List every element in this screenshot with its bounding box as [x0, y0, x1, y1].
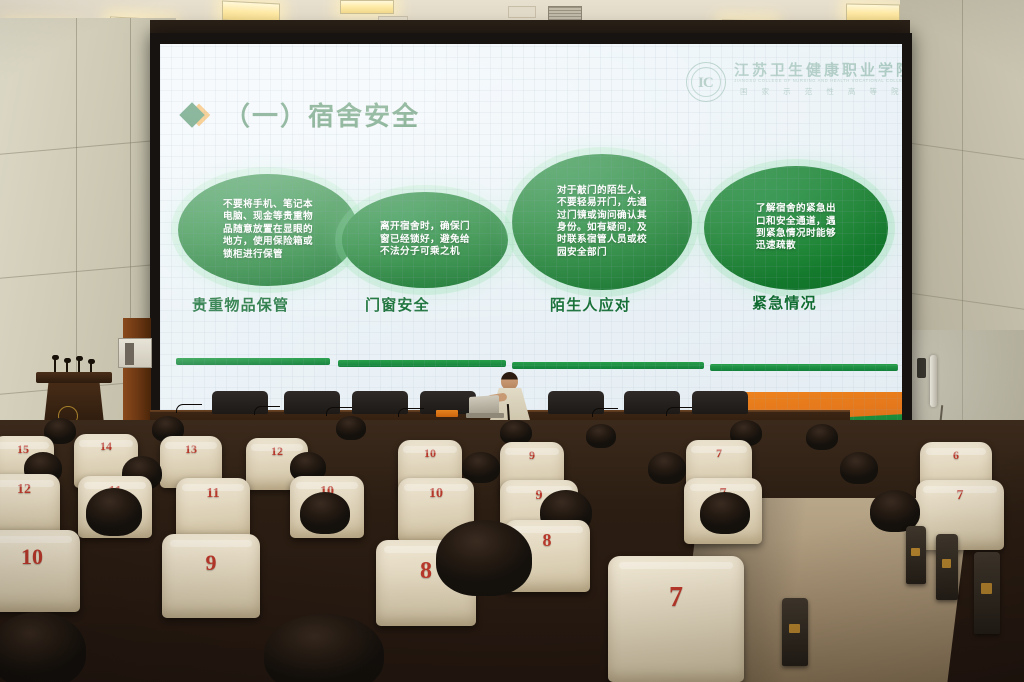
seat-number: 12	[0, 482, 60, 498]
bubble-text-valuables: 不要将手机、笔记本 电脑、现金等贵重物 品随意放置在显眼的 地方，使用保险箱或 …	[223, 199, 313, 261]
bubble-stranger: 对于敲门的陌生人， 不要轻易开门，先通 过门镜或询问确认其 身份。如有疑问，及 …	[512, 154, 692, 290]
divider-bar-4	[710, 364, 898, 371]
bubble-text-doorwindow: 离开宿舍时，确保门 窗已经锁好，避免给 不法分子可乘之机	[380, 221, 470, 258]
seat-number: 9	[500, 448, 564, 463]
seat-number: 9	[162, 550, 260, 576]
audience-head	[462, 452, 500, 483]
caption-stranger: 陌生人应对	[550, 294, 631, 315]
panel-chair	[692, 391, 748, 414]
seat[interactable]: 9	[162, 534, 260, 618]
seat-armrest	[936, 534, 958, 600]
table-microphone	[592, 408, 618, 417]
presenter-laptop-base	[466, 413, 504, 418]
seat-number: 7	[916, 488, 1004, 504]
bubble-doorwindow: 离开宿舍时，确保门 窗已经锁好，避免给 不法分子可乘之机	[342, 192, 508, 288]
audience-head	[86, 488, 142, 536]
wall-control-panel[interactable]	[118, 338, 152, 368]
audience-head	[336, 416, 366, 440]
divider-bar-2	[338, 360, 506, 367]
seat[interactable]: 7	[608, 556, 744, 682]
lecture-hall-scene: IC 江苏卫生健康职业学院 JIANGSU COLLEGE OF NURSING…	[0, 0, 1024, 682]
seat-number: 10	[0, 544, 80, 570]
door-handle[interactable]	[930, 355, 937, 407]
seat-number: 7	[608, 582, 744, 614]
seat-number: 10	[398, 486, 474, 502]
seat-number: 6	[920, 448, 992, 463]
divider-bar-3	[512, 362, 704, 369]
seat[interactable]: 10	[0, 530, 80, 612]
table-microphone	[326, 407, 352, 416]
audience-head	[586, 424, 616, 448]
caption-doorwindow: 门窗安全	[365, 294, 430, 315]
seat[interactable]: 12	[0, 474, 60, 536]
seat[interactable]: 11	[176, 478, 250, 540]
audience-head	[436, 520, 532, 596]
audience-head	[648, 452, 686, 484]
seat-number: 11	[176, 486, 250, 502]
audience-head	[300, 492, 350, 534]
caption-emergency: 紧急情况	[752, 292, 817, 313]
bubble-text-stranger: 对于敲门的陌生人， 不要轻易开门，先通 过门镜或询问确认其 身份。如有疑问，及 …	[557, 185, 647, 260]
audience-head	[700, 492, 750, 534]
audience-head	[840, 452, 878, 484]
seat-armrest	[906, 526, 926, 584]
table-nameplate	[436, 410, 458, 417]
presenter-head	[501, 372, 518, 390]
divider-bar-1	[176, 358, 330, 365]
seat-number: 14	[74, 439, 138, 454]
seat-number: 13	[160, 442, 222, 457]
seat-number: 10	[398, 446, 462, 461]
seat-number: 7	[686, 446, 752, 461]
bubble-valuables: 不要将手机、笔记本 电脑、现金等贵重物 品随意放置在显眼的 地方，使用保险箱或 …	[178, 174, 358, 286]
audience-head	[806, 424, 838, 450]
seat-armrest	[782, 598, 808, 666]
door-plate	[917, 358, 926, 378]
bubble-text-emergency: 了解宿舍的紧急出 口和安全通道，遇 到紧急情况时能够 迅速疏散	[756, 203, 836, 253]
table-microphone	[666, 407, 692, 416]
bubble-emergency: 了解宿舍的紧急出 口和安全通道，遇 到紧急情况时能够 迅速疏散	[704, 166, 888, 290]
table-microphone	[176, 404, 202, 413]
seat-armrest	[974, 552, 1000, 634]
caption-valuables: 贵重物品保管	[192, 294, 289, 315]
seat[interactable]: 7	[916, 480, 1004, 550]
table-microphone	[254, 406, 280, 415]
table-microphone	[398, 408, 424, 417]
